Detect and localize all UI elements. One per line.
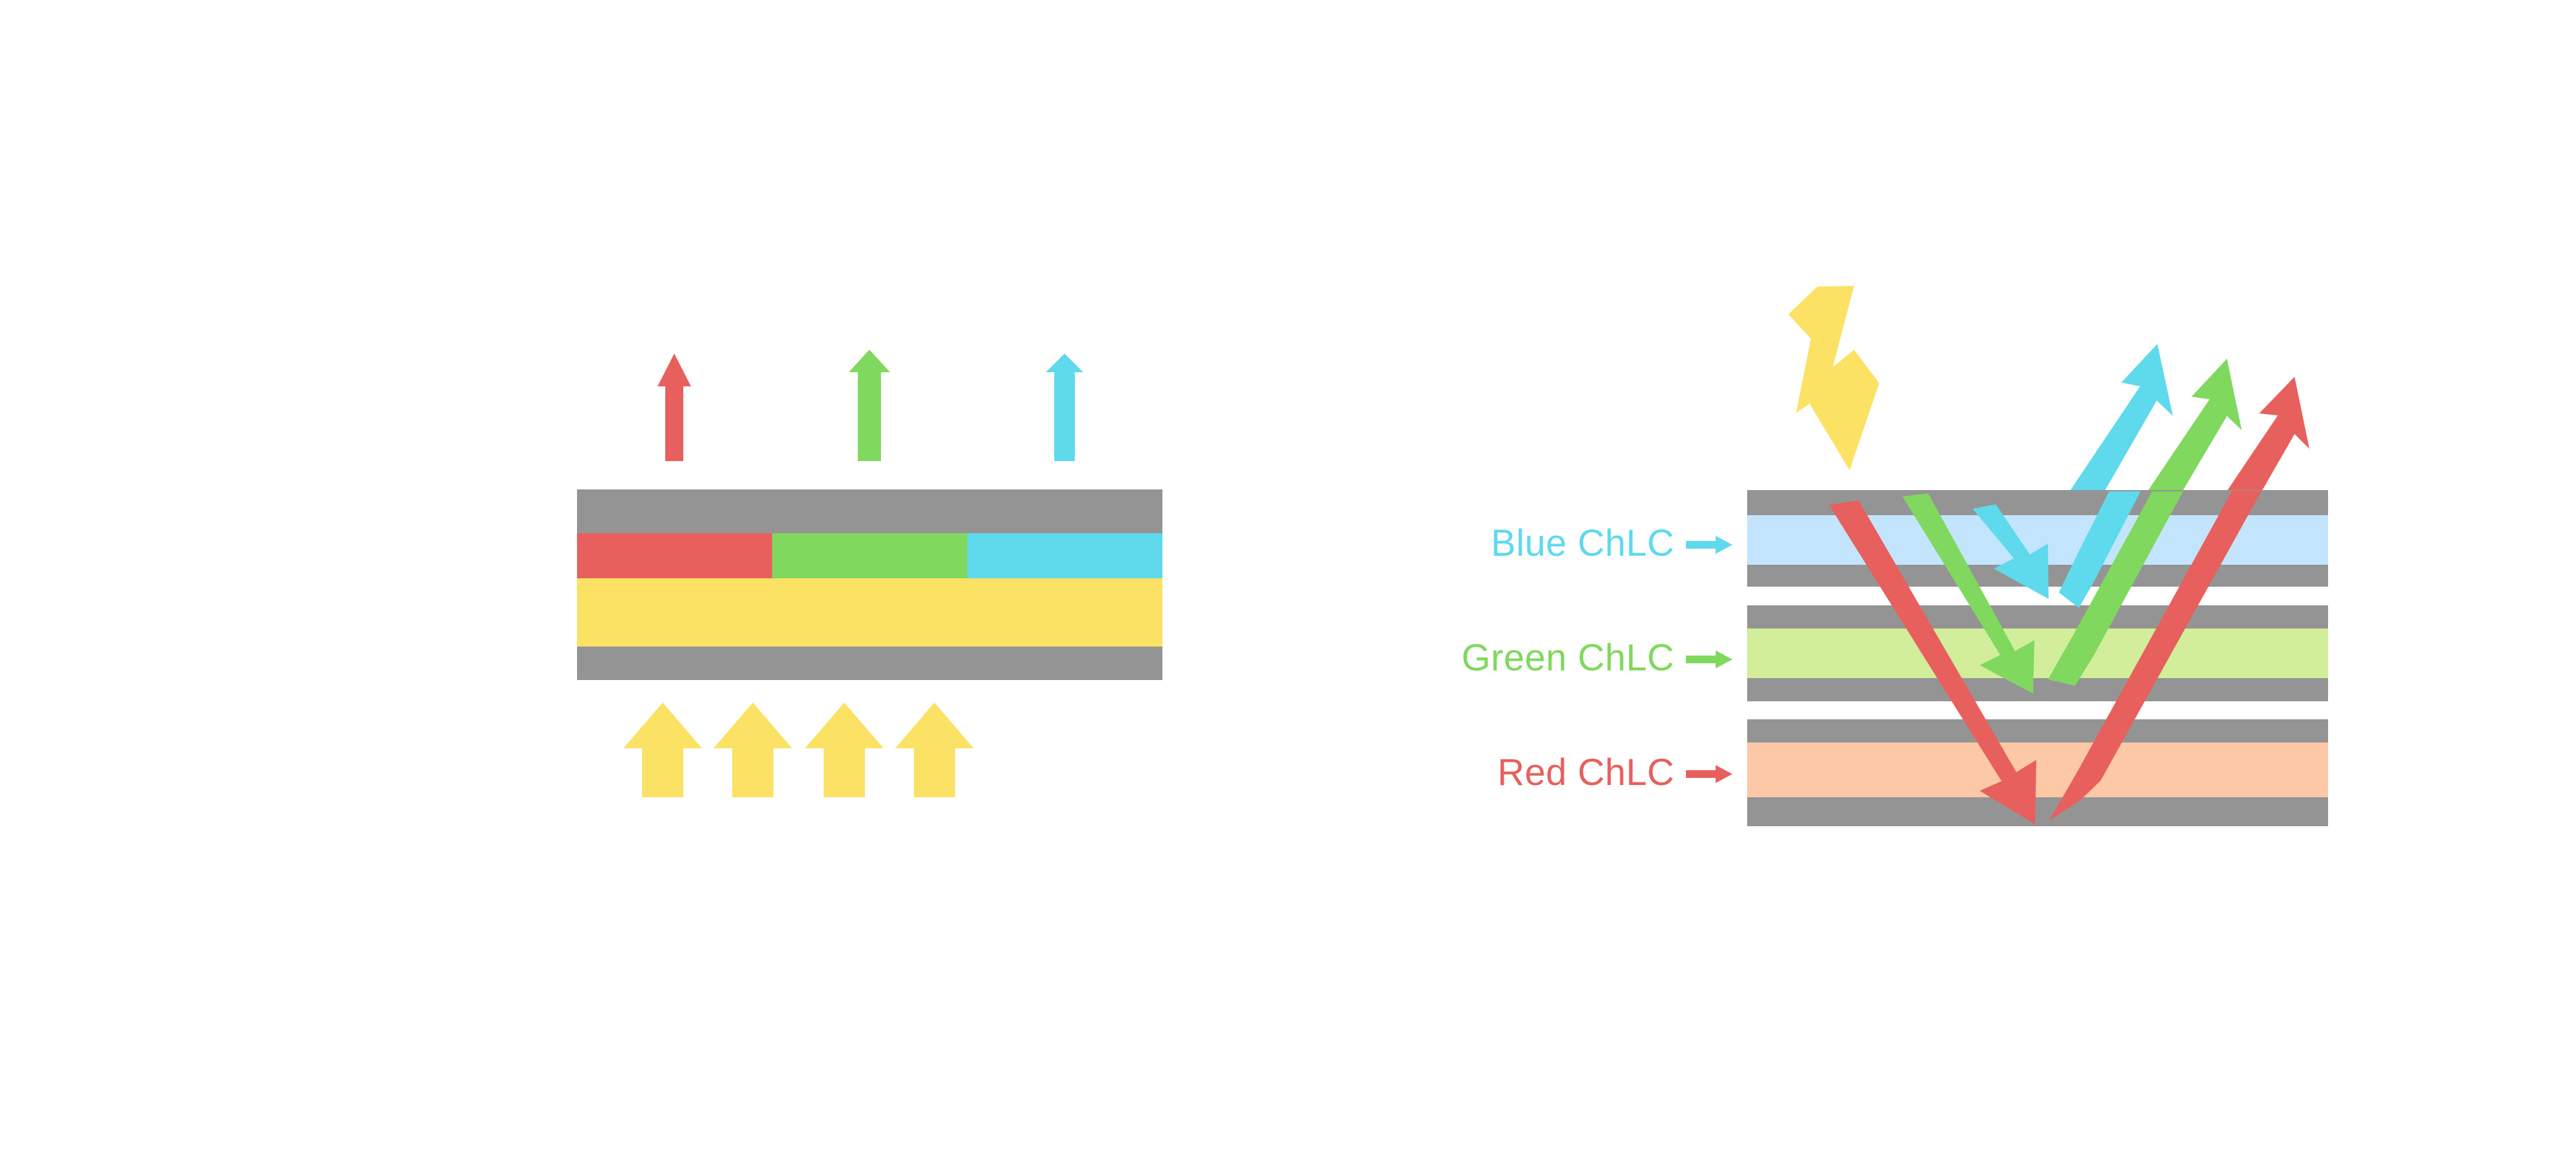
gray-electrode-bottom <box>577 647 1162 680</box>
incident-white-light-arrow <box>1788 286 1879 470</box>
gray-band-4 <box>1747 678 2328 701</box>
gray-band-3 <box>1747 605 2328 629</box>
red-emitted-arrow <box>658 354 691 461</box>
red-ray-outgoing-free <box>2228 377 2309 490</box>
right-panel-svg <box>1288 0 2576 1154</box>
backlight-arrow-1 <box>623 703 702 797</box>
backlight-arrow-2 <box>714 703 792 797</box>
right-panel-reflective-stack: Blue ChLC Green ChLC Red ChLC <box>1288 0 2576 1154</box>
red-filter-segment <box>577 533 772 578</box>
left-panel-svg <box>0 0 1288 1154</box>
red-chlc-label: Red ChLC <box>1497 751 1674 794</box>
green-chlc-label-arrow-icon <box>1686 650 1732 668</box>
gray-electrode-top <box>577 489 1162 533</box>
red-chlc-layer <box>1747 743 2328 797</box>
cyan-filter-segment <box>967 533 1162 578</box>
green-filter-segment <box>772 533 967 578</box>
backlight-arrow-3 <box>805 703 884 797</box>
yellow-backlight-layer <box>577 578 1162 647</box>
green-chlc-layer <box>1747 629 2328 678</box>
red-chlc-label-arrow-icon <box>1686 765 1732 783</box>
diagram-canvas: Blue ChLC Green ChLC Red ChLC <box>0 0 2576 1154</box>
blue-ray-outgoing-free <box>2070 344 2173 490</box>
left-panel-emissive-stack <box>0 0 1288 1154</box>
backlight-arrow-4 <box>895 703 974 797</box>
gray-band-5 <box>1747 719 2328 743</box>
blue-chlc-label-arrow-icon <box>1686 536 1732 554</box>
green-emitted-arrow <box>849 350 890 461</box>
green-chlc-label: Green ChLC <box>1461 636 1674 679</box>
gray-band-6 <box>1747 797 2328 826</box>
blue-chlc-label: Blue ChLC <box>1491 522 1674 565</box>
cyan-emitted-arrow <box>1046 354 1083 461</box>
